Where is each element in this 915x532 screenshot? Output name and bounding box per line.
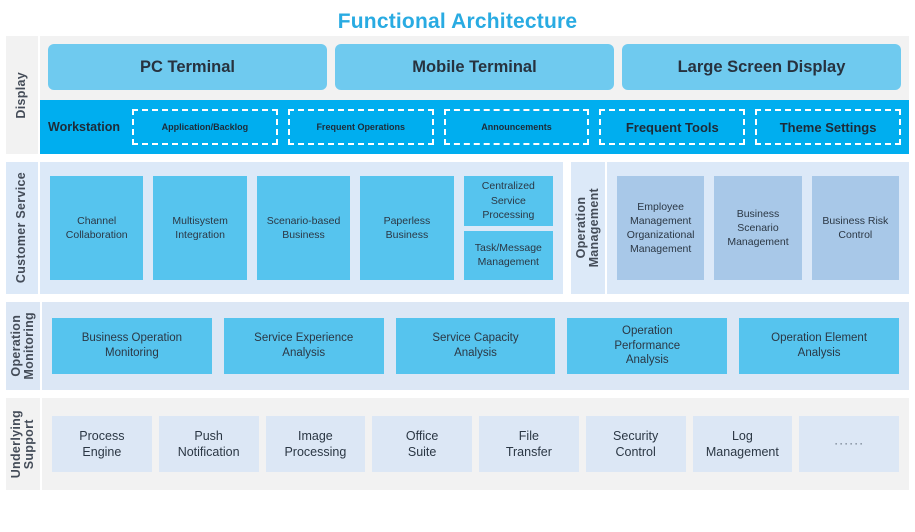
mon-box-operation-element-analysis[interactable]: Operation Element Analysis <box>739 318 899 374</box>
terminal-large-screen[interactable]: Large Screen Display <box>622 44 901 90</box>
workstation-item-frequent-operations[interactable]: Frequent Operations <box>288 109 434 145</box>
sup-box-process-engine[interactable]: Process Engine <box>52 416 152 472</box>
workstation-bar: Workstation Application/Backlog Frequent… <box>40 100 909 154</box>
sup-box-security-control[interactable]: Security Control <box>586 416 686 472</box>
layer-display: Display PC Terminal Mobile Terminal Larg… <box>6 36 909 154</box>
functional-architecture-diagram: Functional Architecture Display PC Termi… <box>0 0 915 532</box>
layer-label-underlying-support: Underlying Support <box>6 398 42 490</box>
underlying-support-box-list: Process Engine Push Notification Image P… <box>42 398 909 490</box>
layer-underlying-support: Underlying Support Process Engine Push N… <box>6 398 909 490</box>
layer-customer-service: Customer Service Channel Collaboration M… <box>6 162 563 294</box>
middle-row: Customer Service Channel Collaboration M… <box>6 162 909 294</box>
sup-box-file-transfer[interactable]: File Transfer <box>479 416 579 472</box>
layer-label-operation-monitoring-text: Operation Monitoring <box>10 312 36 380</box>
workstation-title: Workstation <box>48 120 122 134</box>
layer-label-operation-management: Operation Management <box>571 162 607 294</box>
cs-box-scenario-based-business[interactable]: Scenario-based Business <box>257 176 350 280</box>
cs-box-centralized-service-processing[interactable]: Centralized Service Processing <box>464 176 553 226</box>
sup-box-log-management[interactable]: Log Management <box>693 416 793 472</box>
cs-box-channel-collaboration[interactable]: Channel Collaboration <box>50 176 143 280</box>
terminal-pc[interactable]: PC Terminal <box>48 44 327 90</box>
display-body: PC Terminal Mobile Terminal Large Screen… <box>40 36 909 154</box>
operation-management-box-list: Employee Management Organizational Manag… <box>607 162 909 294</box>
workstation-item-theme-settings[interactable]: Theme Settings <box>755 109 901 145</box>
sup-box-push-notification[interactable]: Push Notification <box>159 416 259 472</box>
customer-service-box-list: Channel Collaboration Multisystem Integr… <box>40 162 563 294</box>
sup-box-more-ellipsis: ······ <box>799 416 899 472</box>
om-box-business-scenario-management[interactable]: Business Scenario Management <box>714 176 801 280</box>
om-box-employee-organizational-management[interactable]: Employee Management Organizational Manag… <box>617 176 704 280</box>
layer-label-display: Display <box>6 36 40 154</box>
layer-label-display-text: Display <box>15 72 28 119</box>
cs-split-column: Centralized Service Processing Task/Mess… <box>464 176 553 280</box>
layer-label-operation-management-text: Operation Management <box>575 188 601 267</box>
page-title: Functional Architecture <box>0 0 915 34</box>
terminal-mobile[interactable]: Mobile Terminal <box>335 44 614 90</box>
sup-box-office-suite[interactable]: Office Suite <box>372 416 472 472</box>
layer-label-customer-service: Customer Service <box>6 162 40 294</box>
cs-box-task-message-management[interactable]: Task/Message Management <box>464 231 553 281</box>
layer-label-customer-service-text: Customer Service <box>15 172 28 283</box>
om-box-business-risk-control[interactable]: Business Risk Control <box>812 176 899 280</box>
layer-operation-management: Operation Management Employee Management… <box>571 162 909 294</box>
workstation-item-application-backlog[interactable]: Application/Backlog <box>132 109 278 145</box>
mon-box-service-experience-analysis[interactable]: Service Experience Analysis <box>224 318 384 374</box>
operation-monitoring-box-list: Business Operation Monitoring Service Ex… <box>42 302 909 390</box>
layer-operation-monitoring: Operation Monitoring Business Operation … <box>6 302 909 390</box>
mon-box-business-operation-monitoring[interactable]: Business Operation Monitoring <box>52 318 212 374</box>
terminal-list: PC Terminal Mobile Terminal Large Screen… <box>40 36 909 92</box>
sup-box-image-processing[interactable]: Image Processing <box>266 416 366 472</box>
cs-box-multisystem-integration[interactable]: Multisystem Integration <box>153 176 246 280</box>
layer-label-underlying-support-text: Underlying Support <box>10 410 36 478</box>
mon-box-service-capacity-analysis[interactable]: Service Capacity Analysis <box>396 318 556 374</box>
workstation-item-announcements[interactable]: Announcements <box>444 109 590 145</box>
workstation-item-frequent-tools[interactable]: Frequent Tools <box>599 109 745 145</box>
mon-box-operation-performance-analysis[interactable]: Operation Performance Analysis <box>567 318 727 374</box>
layer-label-operation-monitoring: Operation Monitoring <box>6 302 42 390</box>
cs-box-paperless-business[interactable]: Paperless Business <box>360 176 453 280</box>
